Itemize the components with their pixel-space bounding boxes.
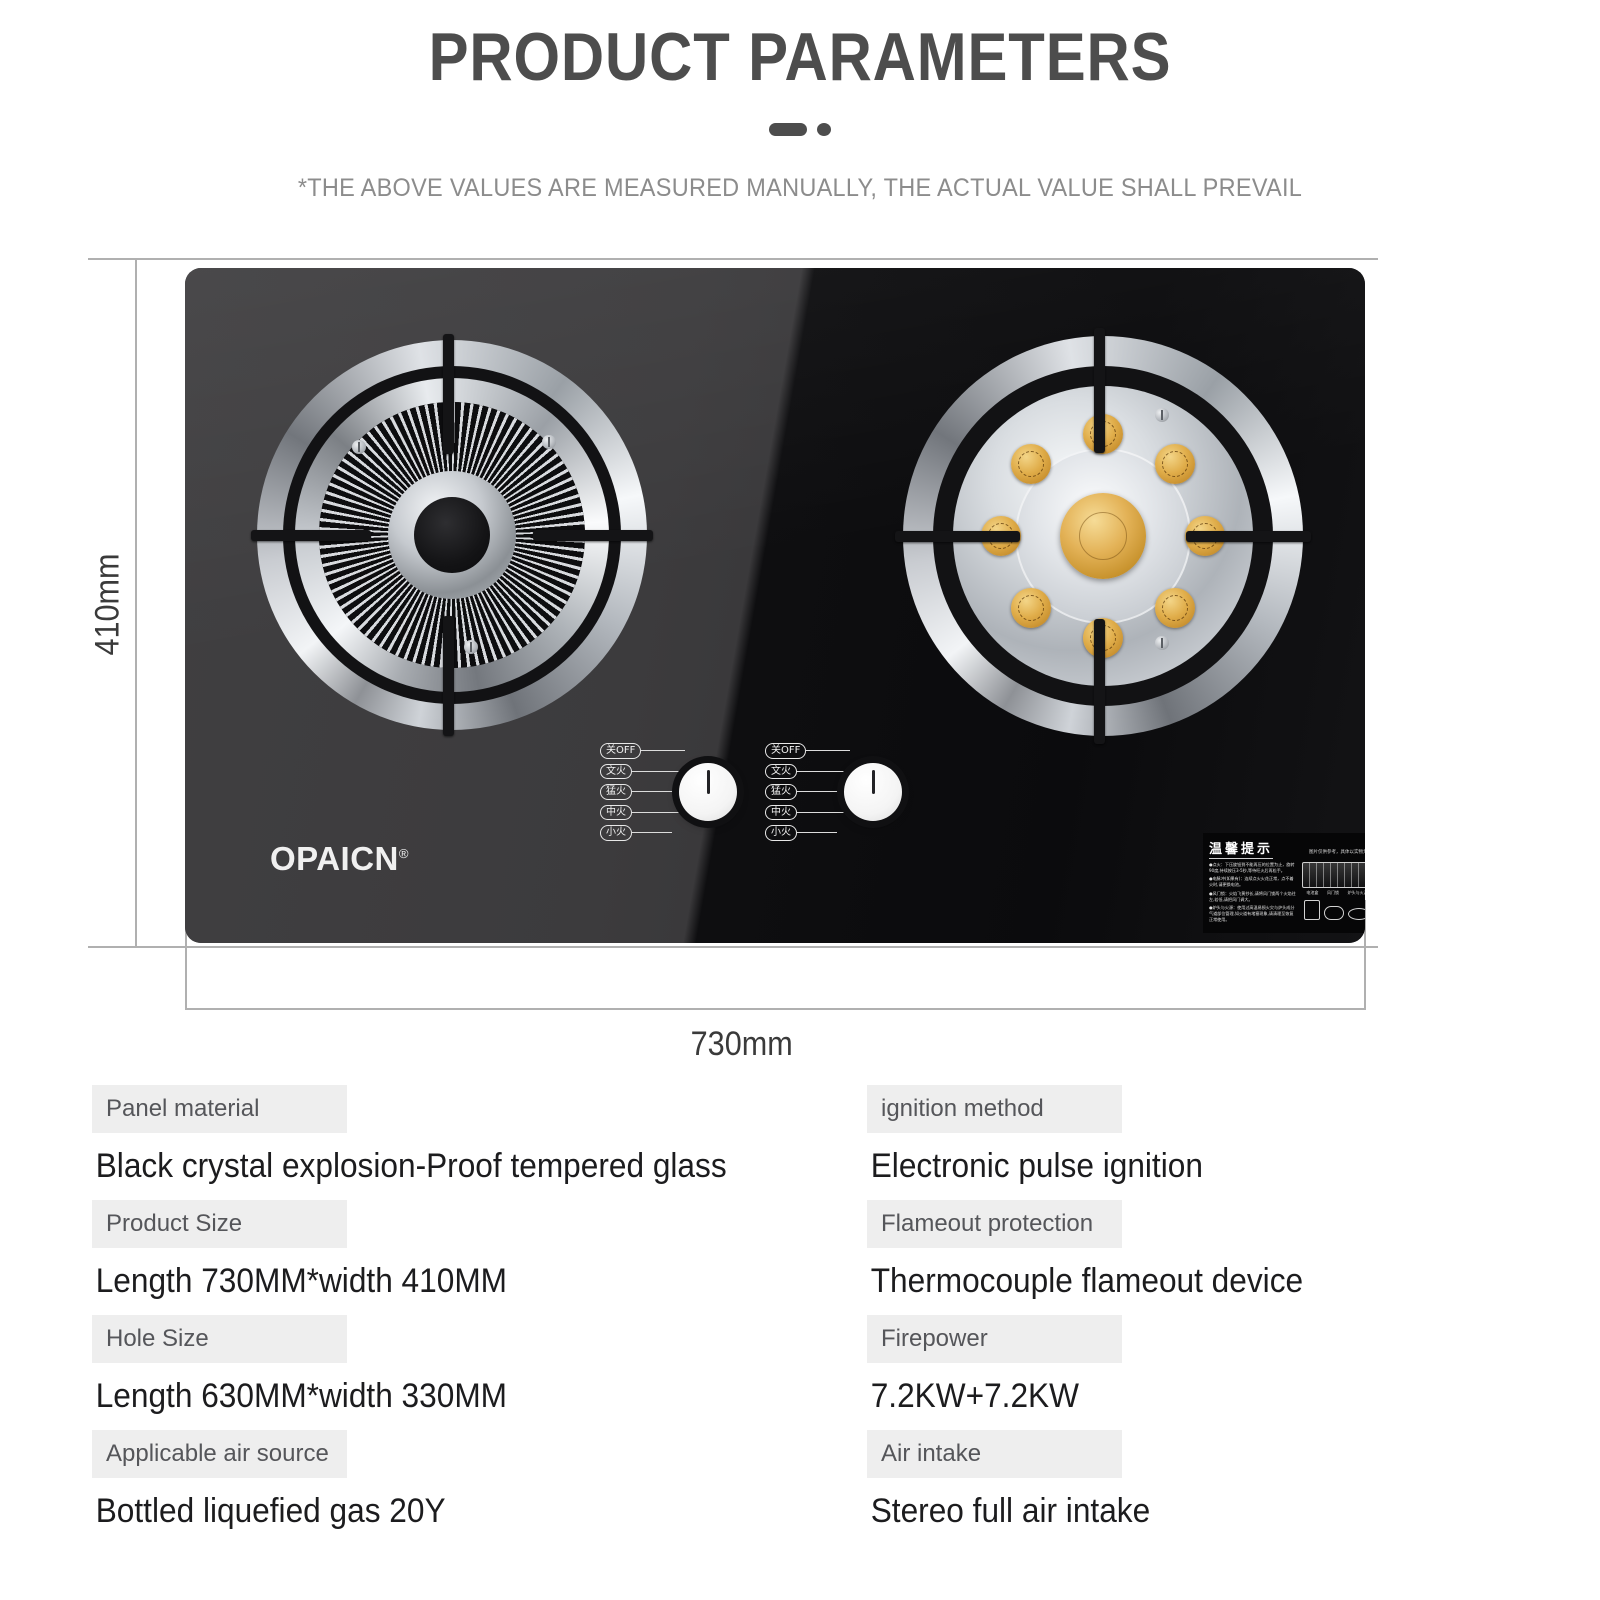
- sticker-body: ●点火：下压旋钮到不能再压的位置为止，旋转90度,持续按压3-5秒,等待旺火后再…: [1209, 862, 1365, 925]
- left-burner: [257, 340, 647, 730]
- divider-dot: [817, 123, 831, 136]
- scale-tick: [797, 812, 845, 813]
- scale-row: 文火: [765, 764, 850, 780]
- left-burner-center-cap: [414, 497, 490, 573]
- left-grate-arm-top: [443, 334, 454, 454]
- spec-label: Product Size: [92, 1200, 347, 1248]
- burner-jet-ne: [1155, 444, 1195, 484]
- title-divider: [0, 122, 1600, 136]
- spec-column-left: Panel material Black crystal explosion-P…: [92, 1085, 867, 1545]
- brand-name: OPAICN: [270, 840, 399, 877]
- scale-pill-high: 猛火: [765, 784, 797, 800]
- scale-row: 猛火: [765, 784, 850, 800]
- left-burner-screw-1: [352, 440, 366, 454]
- spec-value: 7.2KW+7.2KW: [867, 1363, 1467, 1416]
- spec-row: Flameout protection Thermocouple flameou…: [867, 1200, 1512, 1301]
- spec-value: Thermocouple flameout device: [867, 1248, 1467, 1301]
- scale-tick: [797, 771, 849, 772]
- callout-label: 炉头与火源: [1348, 890, 1365, 896]
- dimension-line-bottom: [88, 946, 1378, 948]
- spec-row: Firepower 7.2KW+7.2KW: [867, 1315, 1512, 1416]
- height-dimension-label: 410mm: [89, 551, 128, 659]
- door-icon: [1304, 900, 1320, 920]
- scale-row: 中火: [600, 805, 685, 821]
- right-burner-control-knob[interactable]: [844, 763, 902, 821]
- scale-pill-low: 文火: [600, 764, 632, 780]
- spec-label: Air intake: [867, 1430, 1122, 1478]
- sticker-icon-row: [1302, 900, 1365, 920]
- left-grate-arm-left: [251, 530, 371, 541]
- sticker-paragraph: ●炉头与火源：使用过高温易损火灾与炉头成分气道部位管理,如火道有堵塞现象,请清理…: [1209, 905, 1297, 923]
- scale-tick: [806, 750, 850, 751]
- scale-tick: [641, 750, 685, 751]
- scale-pill-medium: 中火: [765, 805, 797, 821]
- right-grate-arm-left: [895, 531, 1020, 542]
- sticker-figures: 电池盒 风门锁 炉头与火源: [1302, 862, 1365, 925]
- burner-jet-nw: [1011, 444, 1051, 484]
- sticker-paragraph: ●点火：下压旋钮到不能再压的位置为止，旋转90度,持续按压3-5秒,等待旺火后再…: [1209, 862, 1297, 874]
- spec-row: Panel material Black crystal explosion-P…: [92, 1085, 867, 1186]
- callout-label: 风门锁: [1327, 890, 1339, 896]
- scale-row: 小火: [600, 825, 685, 841]
- left-burner-control-knob[interactable]: [679, 763, 737, 821]
- scale-row: 小火: [765, 825, 850, 841]
- spec-value: Black crystal explosion-Proof tempered g…: [92, 1133, 813, 1186]
- right-knob-group: 关OFF 文火 猛火 中火 小火: [765, 743, 902, 841]
- sticker-title: 温馨提示: [1209, 838, 1273, 859]
- right-burner-screw-1: [1155, 408, 1169, 422]
- scale-row: 关OFF: [765, 743, 850, 759]
- spec-label: Firepower: [867, 1315, 1122, 1363]
- schematic-callouts: 电池盒 风门锁 炉头与火源: [1302, 890, 1365, 896]
- left-burner-screw-2: [542, 435, 556, 449]
- spec-row: Air intake Stereo full air intake: [867, 1430, 1512, 1531]
- scale-pill-low: 文火: [765, 764, 797, 780]
- page-title: PRODUCT PARAMETERS: [96, 18, 1504, 96]
- scale-row: 关OFF: [600, 743, 685, 759]
- left-burner-screw-3: [464, 640, 478, 654]
- scale-pill-simmer: 小火: [600, 825, 632, 841]
- sticker-paragraph: ●风门锁：火焰飞黄抄长,请将风门锁两个火焰往左,若低,请把风门调大。: [1209, 891, 1297, 903]
- spec-value: Stereo full air intake: [867, 1478, 1467, 1531]
- spec-table: Panel material Black crystal explosion-P…: [92, 1085, 1512, 1545]
- divider-dash: [769, 123, 807, 136]
- scale-row: 文火: [600, 764, 685, 780]
- page-header: PRODUCT PARAMETERS *THE ABOVE VALUES ARE…: [0, 0, 1600, 203]
- scale-pill-off: 关OFF: [600, 743, 641, 759]
- page-subtitle: *THE ABOVE VALUES ARE MEASURED MANUALLY,…: [48, 174, 1552, 203]
- scale-pill-medium: 中火: [600, 805, 632, 821]
- right-grate-arm-right: [1186, 531, 1311, 542]
- scale-tick: [632, 771, 684, 772]
- spec-label: Flameout protection: [867, 1200, 1122, 1248]
- knobs-icon: [1324, 906, 1344, 920]
- dimension-line-width: [185, 1008, 1365, 1010]
- brand-logo: OPAICN®: [270, 840, 409, 878]
- scale-pill-off: 关OFF: [765, 743, 806, 759]
- sticker-paragraph: ●电脉冲(如果有)：连续点火火花正常，点不着火时,请更换电池。: [1209, 876, 1297, 888]
- spec-label: Applicable air source: [92, 1430, 347, 1478]
- scale-tick: [632, 832, 672, 833]
- product-diagram: 410mm 730mm: [0, 240, 1600, 1050]
- scale-row: 中火: [765, 805, 850, 821]
- right-burner: [903, 336, 1303, 736]
- sticker-paragraphs: ●点火：下压旋钮到不能再压的位置为止，旋转90度,持续按压3-5秒,等待旺火后再…: [1209, 862, 1297, 925]
- left-knob-scale: 关OFF 文火 猛火 中火 小火: [600, 743, 685, 841]
- spec-label: ignition method: [867, 1085, 1122, 1133]
- dimension-line-vertical: [135, 258, 137, 948]
- scale-tick: [797, 832, 837, 833]
- dimension-line-top: [88, 258, 1378, 260]
- spec-value: Electronic pulse ignition: [867, 1133, 1467, 1186]
- burner-jet-sw: [1011, 588, 1051, 628]
- right-grate-arm-bottom: [1094, 619, 1105, 744]
- spec-column-right: ignition method Electronic pulse ignitio…: [867, 1085, 1512, 1545]
- spec-row: Product Size Length 730MM*width 410MM: [92, 1200, 867, 1301]
- left-grate-arm-right: [533, 530, 653, 541]
- scale-pill-high: 猛火: [600, 784, 632, 800]
- spec-row: Hole Size Length 630MM*width 330MM: [92, 1315, 867, 1416]
- burner-jet-se: [1155, 588, 1195, 628]
- spec-label: Hole Size: [92, 1315, 347, 1363]
- spec-value: Bottled liquefied gas 20Y: [92, 1478, 813, 1531]
- scale-pill-simmer: 小火: [765, 825, 797, 841]
- right-burner-center-cap: [1060, 493, 1146, 579]
- right-burner-screw-2: [1155, 636, 1169, 650]
- cooktop-panel: 关OFF 文火 猛火 中火 小火: [185, 268, 1365, 943]
- spec-value: Length 730MM*width 410MM: [92, 1248, 813, 1301]
- spec-row: Applicable air source Bottled liquefied …: [92, 1430, 867, 1531]
- sticker-header: 温馨提示 图片仅供参考，具体以实物为准: [1209, 838, 1365, 859]
- right-knob-scale: 关OFF 文火 猛火 中火 小火: [765, 743, 850, 841]
- pan-icon: [1348, 908, 1365, 920]
- scale-tick: [797, 791, 849, 792]
- right-grate-arm-top: [1094, 328, 1105, 453]
- scale-tick: [632, 791, 684, 792]
- scale-tick: [632, 812, 680, 813]
- left-grate-arm-bottom: [443, 616, 454, 736]
- callout-label: 电池盒: [1306, 890, 1318, 896]
- spec-value: Length 630MM*width 330MM: [92, 1363, 813, 1416]
- spec-label: Panel material: [92, 1085, 347, 1133]
- warning-sticker: 温馨提示 图片仅供参考，具体以实物为准 ●点火：下压旋钮到不能再压的位置为止，旋…: [1203, 833, 1365, 933]
- scale-row: 猛火: [600, 784, 685, 800]
- sticker-note: 图片仅供参考，具体以实物为准: [1309, 849, 1365, 855]
- left-knob-group: 关OFF 文火 猛火 中火 小火: [600, 743, 737, 841]
- registered-trademark-icon: ®: [399, 846, 409, 861]
- spec-row: ignition method Electronic pulse ignitio…: [867, 1085, 1512, 1186]
- stove-schematic-icon: [1302, 862, 1365, 888]
- width-dimension-label: 730mm: [691, 1025, 793, 1064]
